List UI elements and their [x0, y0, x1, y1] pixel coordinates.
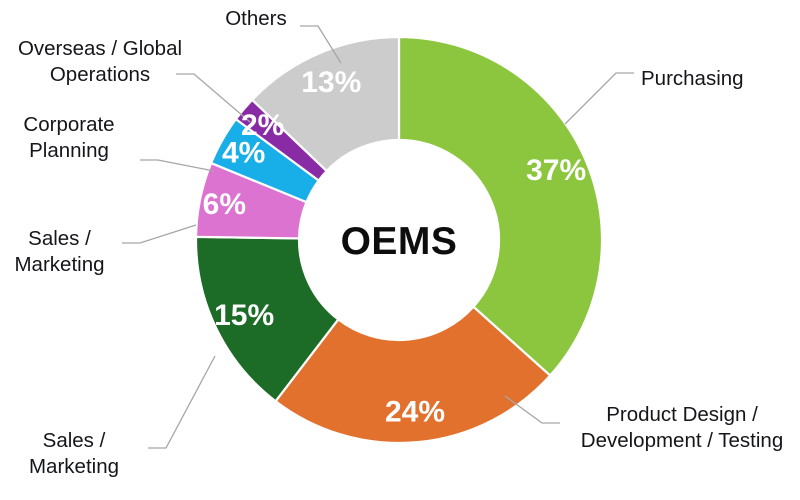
slice-value-label: 13%	[301, 66, 361, 99]
slice-label-product-design: Product Design / Development / Testing	[566, 402, 798, 454]
slice-label-others: Others	[196, 6, 316, 32]
slice-label-corporate-planning: Corporate Planning	[4, 112, 134, 164]
leader-line	[565, 73, 634, 124]
slice-value-label: 6%	[203, 188, 246, 221]
donut-chart: 37%24%15%6%4%2%13% OEMS Purchasing Produ…	[0, 0, 800, 500]
leader-line	[122, 225, 196, 243]
leader-line	[140, 160, 214, 171]
pie-slice[interactable]	[399, 37, 602, 376]
slice-value-label: 2%	[241, 109, 284, 142]
slice-value-label: 15%	[214, 299, 274, 332]
slice-value-label: 37%	[526, 154, 586, 187]
leader-line	[148, 356, 215, 448]
slice-label-sales-marketing-lower: Sales / Marketing	[4, 428, 144, 480]
slice-label-overseas-global-operations: Overseas / Global Operations	[2, 36, 198, 88]
slice-label-sales-marketing-upper: Sales / Marketing	[2, 226, 117, 278]
slice-label-purchasing: Purchasing	[641, 66, 791, 92]
slice-value-label: 24%	[385, 395, 445, 428]
center-label: OEMS	[341, 220, 458, 263]
